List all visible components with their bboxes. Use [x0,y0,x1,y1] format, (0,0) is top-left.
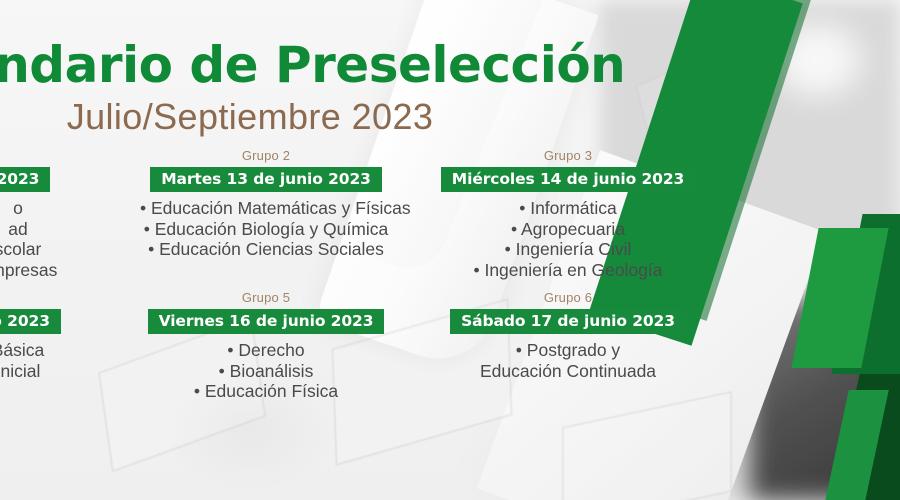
group-card-5: Grupo 5 Viernes 16 de junio 2023 • Derec… [140,290,392,402]
list-item: • Agropecuaria [432,219,704,240]
list-item: • Educación Física [140,381,392,402]
group-card-4: io 2023 Básica Inicial [0,290,144,381]
group-card-6: Grupo 6 Sábado 17 de junio 2023 • Postgr… [432,290,704,381]
group-item-list: • Derecho • Bioanálisis • Educación Físi… [140,340,392,402]
group-item-list: Básica Inicial [0,340,144,381]
group-date-badge: 2023 [0,167,50,192]
group-label: Grupo 3 [432,148,704,164]
group-card-1: 2023 o ad scolar Empresas [0,148,144,280]
list-item: ad [0,219,144,240]
group-item-list: • Informática • Agropecuaria • Ingenierí… [432,198,704,280]
group-date-badge: Sábado 17 de junio 2023 [450,309,686,334]
group-card-2: Grupo 2 Martes 13 de junio 2023 • Educac… [140,148,392,260]
list-item: • Bioanálisis [140,361,392,382]
list-item: • Informática [432,198,704,219]
list-item: • Ingeniería Civil [432,239,704,260]
list-item: Empresas [0,260,144,281]
group-grid: 2023 o ad scolar Empresas Grupo 2 Martes… [0,148,712,432]
poster-canvas: Calendario de Preselección Julio/Septiem… [0,0,900,500]
list-item: • Educación Matemáticas y Físicas [140,198,392,219]
group-date-badge: Miércoles 14 de junio 2023 [441,167,695,192]
list-item: • Derecho [140,340,392,361]
list-item: • Postgrado y [432,340,704,361]
page-subtitle: Julio/Septiembre 2023 [0,96,660,138]
group-row-bottom: io 2023 Básica Inicial Grupo 5 Viernes 1… [0,290,712,432]
group-row-top: 2023 o ad scolar Empresas Grupo 2 Martes… [0,148,712,290]
list-item: scolar [0,239,144,260]
group-date-badge: Viernes 16 de junio 2023 [148,309,385,334]
list-item: • Ingeniería en Geología [432,260,704,281]
list-item: o [0,198,144,219]
list-item: Educación Continuada [432,361,704,382]
list-item: Inicial [0,361,144,382]
list-item: • Educación Biología y Química [140,219,392,240]
group-date-badge: Martes 13 de junio 2023 [150,167,382,192]
group-card-3: Grupo 3 Miércoles 14 de junio 2023 • Inf… [432,148,704,280]
group-item-list: • Educación Matemáticas y Físicas • Educ… [140,198,392,260]
group-label: Grupo 2 [140,148,392,164]
list-item: • Educación Ciencias Sociales [140,239,392,260]
group-item-list: • Postgrado y Educación Continuada [432,340,704,381]
group-label: Grupo 5 [140,290,392,306]
group-label: Grupo 6 [432,290,704,306]
page-title: Calendario de Preselección [0,36,660,94]
group-date-badge: io 2023 [0,309,61,334]
group-item-list: o ad scolar Empresas [0,198,144,280]
list-item: Básica [0,340,144,361]
